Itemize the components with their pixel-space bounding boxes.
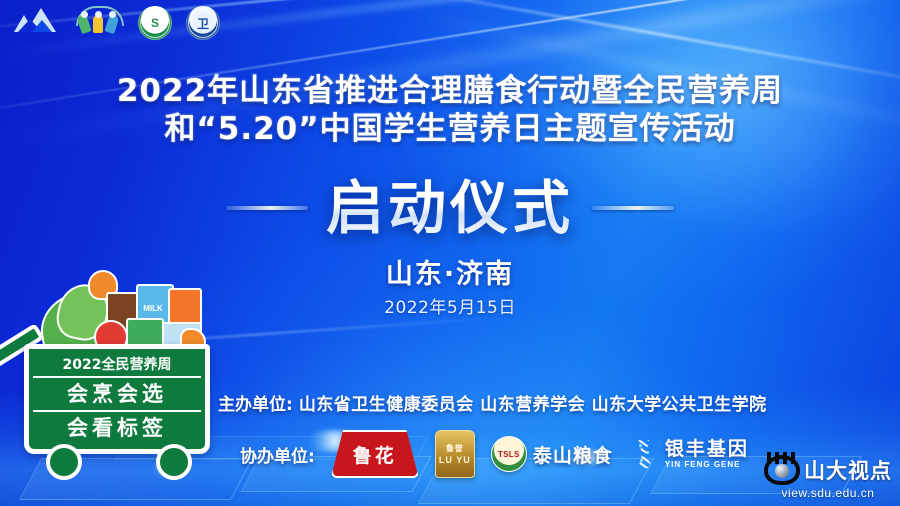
co-organizers-label: 协办单位: — [240, 442, 315, 467]
cart-basket: 2022全民营养周 会烹会选 会看标签 — [24, 344, 210, 454]
shandong-nutrition-society-seal: S — [138, 6, 172, 40]
milk-carton-label: MILK — [138, 304, 168, 313]
shandong-nutrition-group-logo — [12, 6, 58, 40]
luhua-logo: 鲁花 — [331, 430, 419, 478]
title-line-1: 2022年山东省推进合理膳食行动暨全民营养周 — [0, 72, 900, 110]
luyu-logo-en: LU YU — [439, 455, 471, 465]
mountain-icon — [12, 6, 58, 40]
cart-wheel-icon — [156, 444, 192, 480]
healthy-shandong-logo — [72, 6, 124, 40]
luyu-logo-cn: 鲁誉 — [446, 443, 464, 454]
nutrition-week-cart-emblem: MILK 2022全民营养周 会烹会选 会看标签 — [0, 272, 224, 472]
decor-line-left — [226, 206, 308, 210]
organizers-names: 山东省卫生健康委员会 山东营养学会 山东大学公共卫生学院 — [299, 390, 767, 415]
cart-wheel-icon — [46, 444, 82, 480]
taishan-grain-logo: TSLS 泰山粮食 — [491, 436, 613, 472]
cart-divider — [33, 410, 201, 412]
sdu-public-health-seal: 卫 — [186, 6, 220, 40]
cart-slogan-line2: 会烹会选 — [67, 380, 167, 408]
cart-divider — [33, 376, 201, 378]
people-icon — [72, 6, 124, 40]
decor-line-right — [592, 206, 674, 210]
yinfeng-gene-logo: 银丰基因 YIN FENG GENE — [629, 438, 749, 470]
taishan-grain-text: 泰山粮食 — [533, 441, 613, 468]
cart-slogan-line3: 会看标签 — [67, 414, 167, 442]
site-watermark: 山大视点 view.sdu.edu.cn — [764, 455, 892, 500]
organizers-label: 主办单位: — [218, 390, 293, 415]
luyu-logo: 鲁誉 LU YU — [435, 430, 475, 478]
cart-slogan-year: 2022全民营养周 — [63, 354, 172, 374]
eye-gear-icon — [764, 455, 800, 485]
yinfeng-gene-cn: 银丰基因 — [665, 440, 749, 459]
headline-text: 启动仪式 — [326, 176, 574, 240]
watermark-name: 山大视点 — [804, 455, 892, 485]
tsls-badge-text: TSLS — [498, 450, 520, 459]
top-logo-strip: S 卫 — [12, 6, 220, 40]
dna-helix-icon — [629, 438, 659, 470]
luhua-logo-text: 鲁花 — [353, 441, 397, 468]
tsls-badge-icon: TSLS — [491, 436, 527, 472]
title-line-2: 和“5.20”中国学生营养日主题宣传活动 — [0, 110, 900, 148]
watermark-url: view.sdu.edu.cn — [782, 486, 875, 500]
co-organizers-row: 协办单位: 鲁花 鲁誉 LU YU TSLS 泰山粮食 银丰基因 YIN FEN… — [240, 430, 749, 478]
yinfeng-gene-en: YIN FENG GENE — [665, 461, 749, 469]
event-poster: S 卫 2022年山东省推进合理膳食行动暨全民营养周 和“5.20”中国学生营养… — [0, 0, 900, 506]
headline-row: 启动仪式 — [0, 176, 900, 240]
title-block: 2022年山东省推进合理膳食行动暨全民营养周 和“5.20”中国学生营养日主题宣… — [0, 72, 900, 148]
organizers-row: 主办单位: 山东省卫生健康委员会 山东营养学会 山东大学公共卫生学院 — [218, 390, 767, 415]
